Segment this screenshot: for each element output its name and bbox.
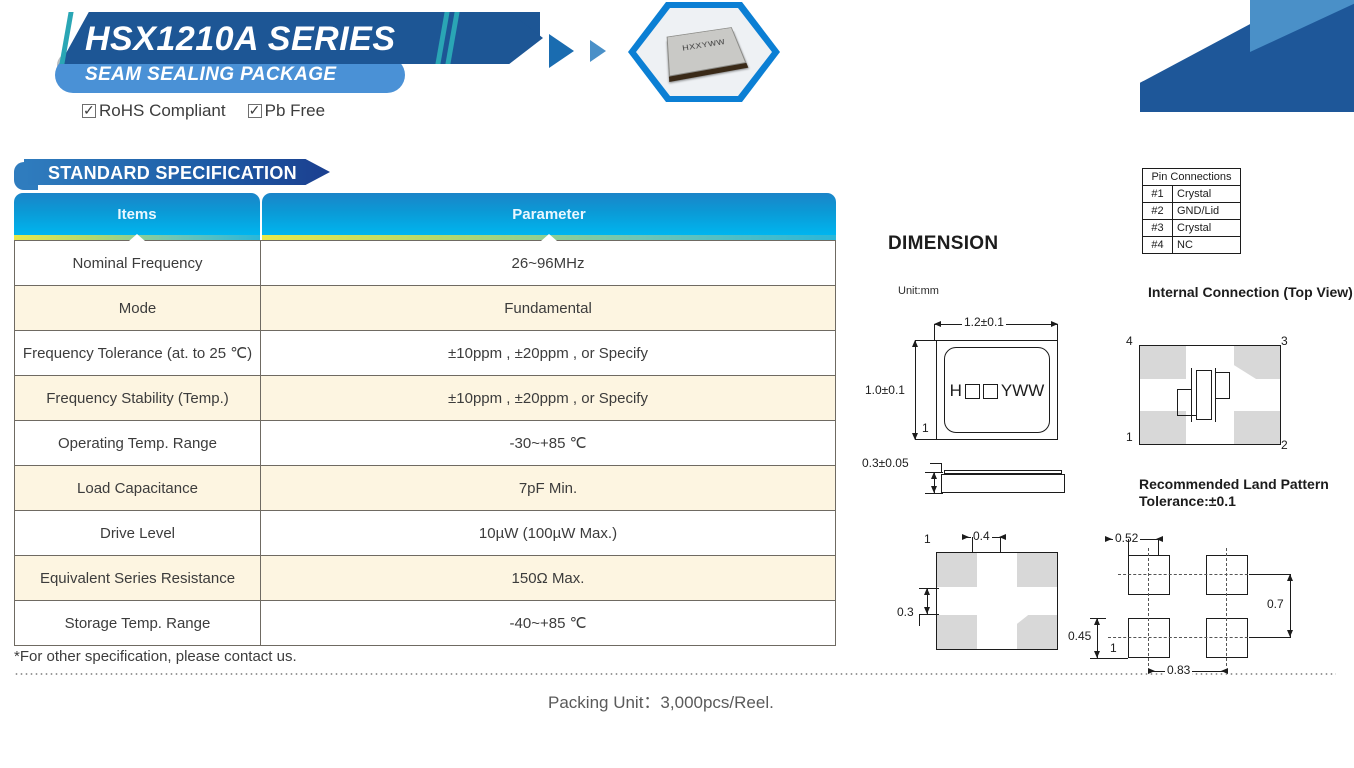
sideview-arrow-bottom bbox=[931, 486, 937, 493]
land-052-arrow-left bbox=[1105, 536, 1112, 542]
spec-parameter: 26~96MHz bbox=[261, 241, 836, 286]
compliance-pbfree-label: Pb Free bbox=[265, 101, 325, 121]
table-row: #2 GND/Lid bbox=[1143, 203, 1241, 220]
packing-unit-text: Packing Unit：3,000pcs/Reel. bbox=[548, 688, 774, 713]
spec-table-wrapper: Items Parameter Nominal Frequency 26~96M… bbox=[14, 193, 836, 646]
compliance-row: RoHS Compliant Pb Free bbox=[82, 101, 325, 121]
compliance-rohs-label: RoHS Compliant bbox=[99, 101, 226, 121]
checkbox-checked-icon bbox=[82, 104, 96, 118]
internal-pin4-label: 4 bbox=[1126, 334, 1133, 348]
crystal-lead-left-h bbox=[1177, 389, 1192, 390]
compliance-rohs: RoHS Compliant bbox=[82, 101, 226, 121]
bottomview-gap-leader bbox=[919, 614, 920, 626]
land-07-ext-top bbox=[1249, 574, 1291, 575]
table-row: Mode Fundamental bbox=[15, 286, 836, 331]
table-row: Load Capacitance 7pF Min. bbox=[15, 466, 836, 511]
land-07-label: 0.7 bbox=[1267, 597, 1284, 611]
land-045-ext-top bbox=[1090, 618, 1106, 619]
land-052-label: 0.52 bbox=[1113, 531, 1140, 545]
bottomview-gap-arrow-top bbox=[924, 588, 930, 595]
table-row: #4 NC bbox=[1143, 237, 1241, 254]
spec-parameter: -40~+85 ℃ bbox=[261, 601, 836, 646]
crystal-lead-right-t bbox=[1216, 372, 1230, 373]
crystal-plate-left bbox=[1191, 368, 1192, 422]
land-045-label: 0.45 bbox=[1068, 629, 1091, 643]
internal-pin1-label: 1 bbox=[1126, 430, 1133, 444]
bottomview-gap-arrow-bottom bbox=[924, 607, 930, 614]
internal-connection-title: Internal Connection (Top View) bbox=[1148, 284, 1353, 300]
land-centerline-v-left bbox=[1148, 548, 1149, 666]
land-pin1-label: 1 bbox=[1110, 641, 1117, 655]
table-row: Pin Connections bbox=[1143, 169, 1241, 186]
topview-pin1-label: 1 bbox=[922, 421, 929, 435]
land-pad-1 bbox=[1128, 618, 1170, 658]
spec-item: Frequency Stability (Temp.) bbox=[15, 376, 261, 421]
crystal-lead-left-b bbox=[1177, 415, 1197, 416]
crystal-plate-right bbox=[1215, 368, 1216, 422]
datasheet-page: HSX1210A SERIES SEAM SEALING PACKAGE HXX… bbox=[0, 0, 1354, 768]
topview-width-label: 1.2±0.1 bbox=[962, 315, 1006, 329]
table-row: Drive Level 10µW (100µW Max.) bbox=[15, 511, 836, 556]
topview-ext-left bbox=[934, 324, 935, 340]
spec-parameter: ±10ppm , ±20ppm , or Specify bbox=[261, 331, 836, 376]
spec-item: Load Capacitance bbox=[15, 466, 261, 511]
land-07-arrow-bottom bbox=[1287, 630, 1293, 637]
land-centerline-v-right bbox=[1226, 548, 1227, 666]
land-083-label: 0.83 bbox=[1165, 663, 1192, 677]
pin-number: #2 bbox=[1143, 203, 1173, 220]
bottomview-pin1-label: 1 bbox=[924, 532, 931, 546]
land-pad-3 bbox=[1206, 555, 1248, 595]
spec-parameter: 150Ω Max. bbox=[261, 556, 836, 601]
land-pad-4 bbox=[1128, 555, 1170, 595]
land-045-arrow-bottom bbox=[1094, 651, 1100, 658]
topview-height-label: 1.0±0.1 bbox=[863, 383, 907, 397]
crystal-lead-left-v bbox=[1177, 389, 1178, 416]
land-045-ext-bottom bbox=[1090, 658, 1128, 659]
topview-ext-bottom bbox=[915, 439, 937, 440]
land-07-dimline bbox=[1290, 574, 1291, 637]
pin-number: #3 bbox=[1143, 220, 1173, 237]
play-triangle-small-icon bbox=[590, 40, 606, 62]
internal-pad-2 bbox=[1234, 411, 1280, 444]
bottomview-pad-2 bbox=[937, 615, 977, 649]
land-052-ext-right bbox=[1158, 539, 1159, 555]
sideview-body bbox=[941, 474, 1065, 493]
play-triangle-large-icon bbox=[549, 34, 574, 68]
spec-parameter: Fundamental bbox=[261, 286, 836, 331]
spec-header-parameter: Parameter bbox=[262, 193, 836, 240]
spec-parameter: 7pF Min. bbox=[261, 466, 836, 511]
topview-ext-top bbox=[915, 340, 937, 341]
spec-header-items: Items bbox=[14, 193, 260, 240]
spec-item: Equivalent Series Resistance bbox=[15, 556, 261, 601]
topview-marking-group: H YWW bbox=[946, 378, 1048, 404]
spec-parameter: ±10ppm , ±20ppm , or Specify bbox=[261, 376, 836, 421]
pin-connections-title: Pin Connections bbox=[1143, 169, 1241, 186]
table-row: Frequency Tolerance (at. to 25 ℃) ±10ppm… bbox=[15, 331, 836, 376]
pin-connections-table: Pin Connections #1 Crystal #2 GND/Lid #3… bbox=[1142, 168, 1241, 254]
spec-header-parameter-underline bbox=[262, 235, 836, 240]
pin-function: Crystal bbox=[1173, 220, 1241, 237]
internal-pin2-label: 2 bbox=[1281, 438, 1288, 452]
topview-ext-right bbox=[1057, 324, 1058, 340]
spec-item: Mode bbox=[15, 286, 261, 331]
compliance-pbfree: Pb Free bbox=[248, 101, 325, 121]
bottomview-gap-label: 0.3 bbox=[897, 605, 914, 619]
spec-header-items-label: Items bbox=[14, 193, 260, 235]
land-07-ext-bottom bbox=[1249, 637, 1291, 638]
spec-parameter: -30~+85 ℃ bbox=[261, 421, 836, 466]
corner-decoration bbox=[1140, 0, 1354, 112]
land-052-ext-left bbox=[1128, 539, 1129, 555]
pin-function: Crystal bbox=[1173, 186, 1241, 203]
spec-banner-label: STANDARD SPECIFICATION bbox=[48, 161, 297, 185]
topview-marking-prefix: H bbox=[950, 381, 962, 401]
spec-item: Operating Temp. Range bbox=[15, 421, 261, 466]
dimension-unit-label: Unit:mm bbox=[898, 285, 939, 297]
table-row: Storage Temp. Range -40~+85 ℃ bbox=[15, 601, 836, 646]
pin-number: #4 bbox=[1143, 237, 1173, 254]
bottomview-pad-width-label: 0.4 bbox=[971, 529, 992, 543]
checkbox-checked-icon bbox=[248, 104, 262, 118]
pin-function: NC bbox=[1173, 237, 1241, 254]
crystal-lead-right-h bbox=[1216, 398, 1230, 399]
header-notch-icon bbox=[129, 234, 145, 241]
pin-number: #1 bbox=[1143, 186, 1173, 203]
dotted-divider bbox=[14, 673, 1336, 675]
land-pattern-title-line2: Tolerance:±0.1 bbox=[1139, 493, 1236, 509]
sideview-arrow-top bbox=[931, 472, 937, 479]
bottomview-gap-ext-bottom bbox=[919, 614, 939, 615]
table-row: Nominal Frequency 26~96MHz bbox=[15, 241, 836, 286]
table-row: Operating Temp. Range -30~+85 ℃ bbox=[15, 421, 836, 466]
topview-marking-suffix: YWW bbox=[1001, 381, 1044, 401]
bottomview-pad-1 bbox=[937, 553, 977, 587]
product-chip-marking: HXXYWW bbox=[668, 36, 739, 55]
table-row: #1 Crystal bbox=[1143, 186, 1241, 203]
table-row: Frequency Stability (Temp.) ±10ppm , ±20… bbox=[15, 376, 836, 421]
marking-box-icon bbox=[965, 384, 980, 399]
spec-footnote: *For other specification, please contact… bbox=[14, 648, 297, 665]
topview-height-dimline bbox=[915, 340, 916, 440]
bottomview-pad-arrow-left bbox=[962, 534, 969, 540]
land-centerline-h-top bbox=[1118, 574, 1258, 575]
internal-pin3-label: 3 bbox=[1281, 334, 1288, 348]
spec-item: Frequency Tolerance (at. to 25 ℃) bbox=[15, 331, 261, 376]
table-row: #3 Crystal bbox=[1143, 220, 1241, 237]
land-pad-2 bbox=[1206, 618, 1248, 658]
land-pattern-title-line1: Recommended Land Pattern bbox=[1139, 476, 1329, 492]
bottomview-pad-4 bbox=[1017, 553, 1057, 587]
marking-box-icon bbox=[983, 384, 998, 399]
pin-function: GND/Lid bbox=[1173, 203, 1241, 220]
spec-header-parameter-label: Parameter bbox=[262, 193, 836, 235]
crystal-lead-right-v bbox=[1229, 372, 1230, 399]
sideview-thickness-label: 0.3±0.05 bbox=[862, 456, 909, 470]
spec-header-items-underline bbox=[14, 235, 260, 240]
spec-parameter: 10µW (100µW Max.) bbox=[261, 511, 836, 556]
spec-item: Nominal Frequency bbox=[15, 241, 261, 286]
spec-table-header-row: Items Parameter bbox=[14, 193, 836, 240]
land-centerline-h-bottom bbox=[1108, 637, 1258, 638]
spec-table: Nominal Frequency 26~96MHz Mode Fundamen… bbox=[14, 240, 836, 646]
land-083-arrow-left bbox=[1148, 668, 1155, 674]
spec-item: Drive Level bbox=[15, 511, 261, 556]
series-title: HSX1210A SERIES bbox=[85, 18, 505, 60]
crystal-symbol-body bbox=[1196, 370, 1212, 420]
table-row: Equivalent Series Resistance 150Ω Max. bbox=[15, 556, 836, 601]
sideview-ext-bottom bbox=[925, 493, 943, 494]
internal-pad-4 bbox=[1140, 346, 1186, 379]
header-notch-icon bbox=[541, 234, 557, 241]
land-083-arrow-right bbox=[1221, 668, 1228, 674]
dimension-title: DIMENSION bbox=[888, 233, 998, 255]
spec-item: Storage Temp. Range bbox=[15, 601, 261, 646]
package-subtitle: SEAM SEALING PACKAGE bbox=[85, 60, 415, 90]
bottomview-pad-3-chamfered bbox=[1017, 615, 1057, 649]
